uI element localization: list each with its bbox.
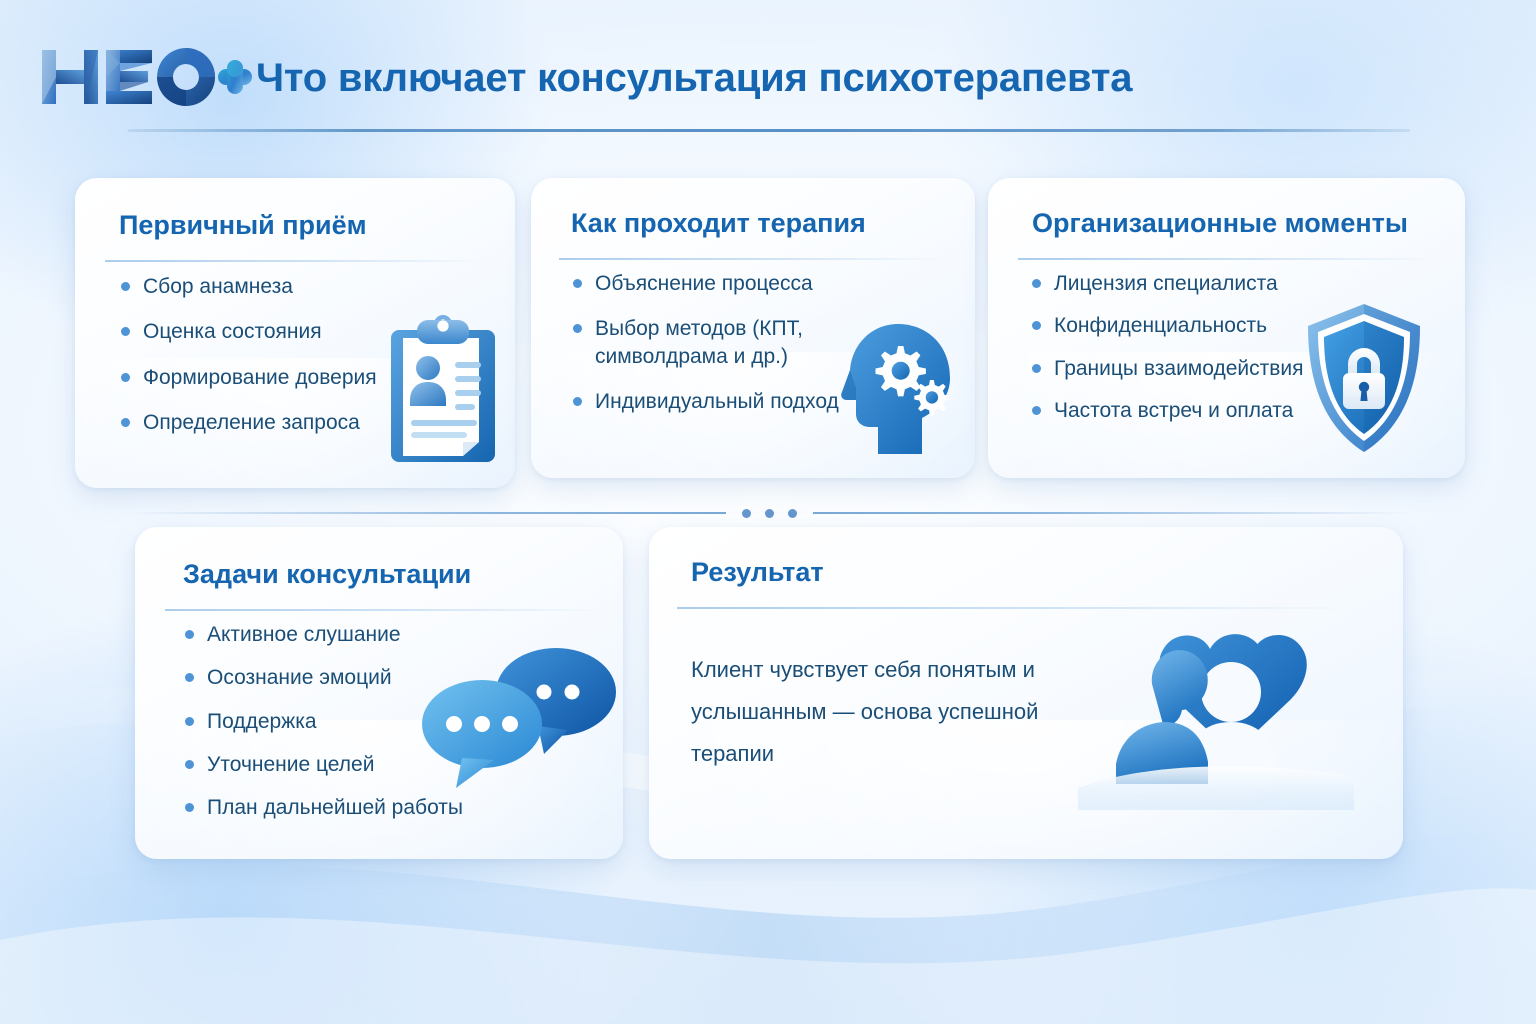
divider-line-right: [813, 512, 1411, 514]
list-item: Границы взаимодействия: [1028, 355, 1328, 382]
header-divider: [128, 129, 1410, 132]
list-item: Индивидуальный подход: [569, 388, 851, 415]
card-divider: [677, 607, 1357, 609]
card-divider: [559, 258, 947, 260]
clipboard-icon: [383, 308, 503, 468]
list-item: Определение запроса: [117, 409, 427, 436]
shield-lock-icon: [1300, 300, 1428, 460]
divider-dots: [742, 509, 797, 518]
list-org: Лицензия специалиста Конфиденциальность …: [1028, 270, 1328, 439]
card-title-org: Организационные моменты: [1032, 208, 1408, 239]
list-item: Оценка состояния: [117, 318, 427, 345]
list-item: Сбор анамнеза: [117, 273, 427, 300]
card-divider: [165, 609, 605, 611]
page-header: Что включает консультация психотерапевта: [0, 0, 1536, 150]
card-title-result: Результат: [691, 557, 824, 588]
logo-letter-e: [106, 50, 152, 104]
row-divider: [128, 508, 1410, 518]
heart-people-icon: [1078, 618, 1354, 810]
chat-bubble-front: [422, 680, 542, 788]
list-item: Конфиденциальность: [1028, 312, 1328, 339]
logo-letter-h: [42, 50, 98, 104]
list-item: План дальнейшей работы: [181, 794, 481, 821]
gear-large: [876, 346, 926, 396]
card-title-therapy: Как проходит терапия: [571, 208, 866, 239]
list-item: Частота встреч и оплата: [1028, 397, 1328, 424]
card-title-tasks: Задачи консультации: [183, 559, 471, 590]
logo-plus-icon: [218, 60, 252, 94]
card-title-primary: Первичный приём: [119, 210, 367, 241]
list-item: Формирование доверия: [117, 364, 427, 391]
head-gears-icon: [838, 318, 966, 466]
page-title: Что включает консультация психотерапевта: [256, 56, 1132, 101]
list-primary: Сбор анамнеза Оценка состояния Формирова…: [117, 273, 427, 454]
list-item: Лицензия специалиста: [1028, 270, 1328, 297]
divider-line-left: [128, 512, 726, 514]
brand-logo-heo-plus: [40, 44, 252, 110]
list-therapy: Объяснение процесса Выбор методов (КПТ, …: [569, 270, 851, 433]
chat-bubbles-icon: [420, 640, 620, 790]
gear-small: [914, 380, 949, 415]
list-item: Объяснение процесса: [569, 270, 851, 297]
result-description: Клиент чувствует себя понятым и услышанн…: [691, 649, 1111, 776]
card-divider: [1018, 258, 1438, 260]
card-divider: [105, 260, 487, 262]
logo-letter-o: [157, 48, 215, 106]
list-item: Выбор методов (КПТ, символдрама и др.): [569, 315, 851, 370]
